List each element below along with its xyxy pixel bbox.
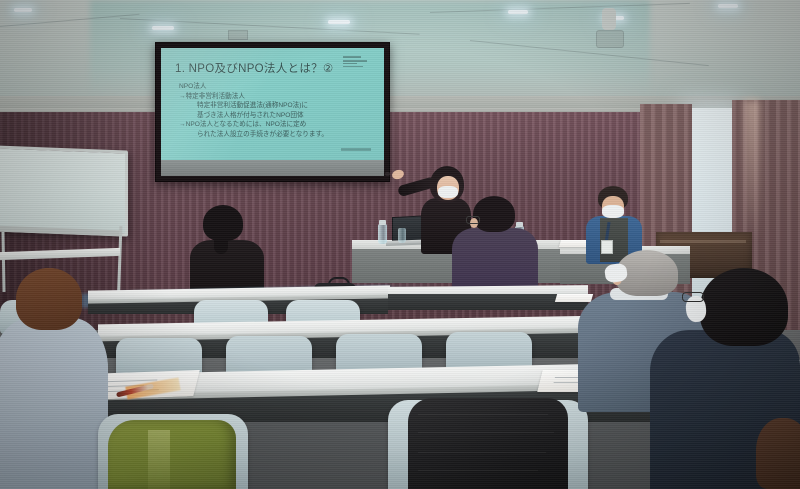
whiteboard bbox=[0, 145, 128, 236]
ceiling-light bbox=[508, 10, 528, 14]
ceiling-light bbox=[328, 20, 350, 24]
eyeglasses bbox=[466, 216, 480, 224]
ceiling-vent bbox=[228, 30, 248, 40]
water-bottle bbox=[398, 228, 406, 243]
ceiling-projector-mount bbox=[602, 8, 616, 30]
foreground-attendee-corner-hair bbox=[756, 418, 800, 489]
water-bottle bbox=[378, 224, 387, 244]
handout-paper bbox=[555, 294, 593, 302]
ceiling-speaker bbox=[596, 30, 624, 48]
black-puffer-coat bbox=[408, 398, 568, 489]
seminar-room-photo: 1. NPO及びNPO法人とは？② NPO法人 →特定非営利活動法人 特定非営利… bbox=[0, 0, 800, 489]
coat-fold bbox=[148, 430, 170, 489]
olive-green-coat bbox=[108, 420, 236, 489]
foreground-attendee-navy-jacket-hair bbox=[700, 268, 788, 346]
bottle-cap bbox=[516, 222, 523, 227]
ceiling-light bbox=[14, 8, 32, 12]
cabinet-edge bbox=[660, 240, 746, 243]
screen-surface: 1. NPO及びNPO法人とは？② NPO法人 →特定非営利活動法人 特定非営利… bbox=[161, 48, 384, 176]
ceiling-light bbox=[718, 4, 738, 8]
projection-screen: 1. NPO及びNPO法人とは？② NPO法人 →特定非営利活動法人 特定非営利… bbox=[155, 42, 390, 182]
attendee-ponytail-hair bbox=[203, 205, 243, 241]
foreground-attendee-hair bbox=[16, 268, 82, 330]
face-mask bbox=[602, 205, 624, 218]
bottle-cap bbox=[379, 220, 386, 225]
ceiling-light bbox=[152, 26, 174, 30]
id-badge bbox=[601, 240, 613, 254]
presenter-remote bbox=[385, 172, 390, 176]
screen-lower-band bbox=[161, 160, 384, 176]
foreground-attendee-blue-shirt-torso bbox=[0, 318, 108, 489]
screen-glare bbox=[161, 48, 384, 160]
curtain-highlight bbox=[744, 100, 760, 240]
eyeglasses bbox=[682, 292, 704, 302]
attendee-purple-jacket-hair bbox=[473, 196, 515, 232]
face-mask bbox=[438, 186, 458, 198]
